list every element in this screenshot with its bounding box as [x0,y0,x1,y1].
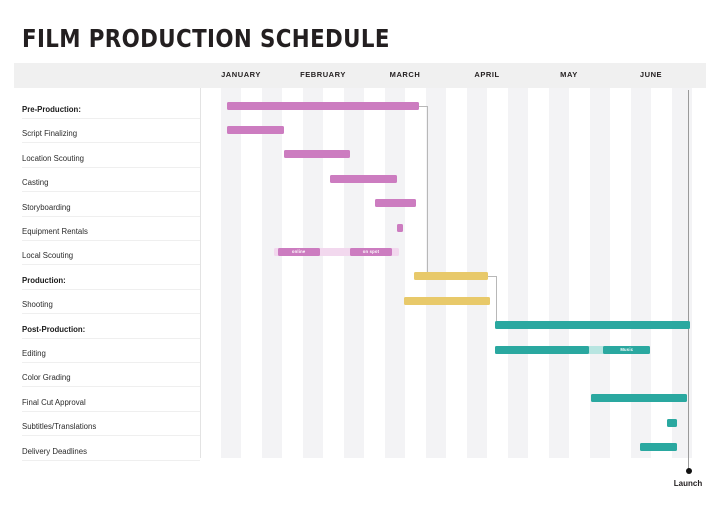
week-stripe [385,88,406,458]
row-separator [22,289,200,290]
row-separator [22,216,200,217]
gantt-bar[interactable] [227,126,284,134]
row-separator [22,362,200,363]
task-label-editing: Editing [22,349,46,358]
week-stripe [549,88,570,458]
week-stripe [631,88,652,458]
gantt-bar[interactable] [375,199,417,207]
row-separator [22,142,200,143]
task-label-column: Pre-Production:Script FinalizingLocation… [14,88,201,458]
gantt-bar[interactable] [414,272,488,280]
gantt-chart: JANUARYFEBRUARYMARCHAPRILMAYJUNE Pre-Pro… [14,63,706,458]
row-separator [22,191,200,192]
month-label-february: FEBRUARY [300,70,346,79]
week-stripe [508,88,529,458]
gantt-bar[interactable] [284,150,350,158]
week-stripe [303,88,324,458]
month-label-june: JUNE [640,70,662,79]
task-label-location-scouting: Location Scouting [22,154,84,163]
row-separator [22,338,200,339]
row-separator [22,118,200,119]
month-label-april: APRIL [474,70,499,79]
gantt-plot-area: onlineon spotMusic [200,88,692,458]
task-label-local-scouting: Local Scouting [22,251,73,260]
timeline-header-band [14,63,706,88]
week-stripe [221,88,242,458]
gantt-bar[interactable] [227,102,419,110]
month-label-january: JANUARY [221,70,261,79]
row-separator [22,386,200,387]
gantt-bar[interactable] [330,175,396,183]
task-label-casting: Casting [22,178,48,187]
connector-segment [427,106,428,277]
connector-segment [419,106,427,107]
week-stripe [344,88,365,458]
gantt-bar[interactable] [667,419,677,427]
task-label-subtitles-translations: Subtitles/Translations [22,422,96,431]
task-label-script-finalizing: Script Finalizing [22,129,77,138]
gantt-bar[interactable] [495,321,689,329]
gantt-bar-label: Music [603,348,650,352]
launch-label: Launch [674,479,702,488]
row-separator [22,264,200,265]
week-stripe [590,88,611,458]
connector-segment [488,276,496,277]
page-title: FILM PRODUCTION SCHEDULE [22,24,390,53]
gantt-bar-label: on spot [350,250,392,254]
row-separator [22,167,200,168]
gantt-bar-label: online [278,250,320,254]
task-label-pre-production: Pre-Production: [22,105,81,114]
task-label-final-cut-approval: Final Cut Approval [22,398,86,407]
row-separator [22,313,200,314]
gantt-bar[interactable] [404,297,490,305]
task-label-equipment-rentals: Equipment Rentals [22,227,88,236]
launch-line [688,90,689,470]
launch-dot [686,468,692,474]
gantt-chart-page: FILM PRODUCTION SCHEDULE JANUARYFEBRUARY… [0,0,720,509]
connector-segment [496,276,497,325]
month-label-may: MAY [560,70,578,79]
gantt-bar[interactable] [591,394,687,402]
task-label-delivery-deadlines: Delivery Deadlines [22,447,87,456]
row-separator [22,240,200,241]
row-separator [22,411,200,412]
row-separator [22,435,200,436]
task-label-storyboarding: Storyboarding [22,203,71,212]
week-stripe [262,88,283,458]
task-label-post-production: Post-Production: [22,325,85,334]
task-label-shooting: Shooting [22,300,53,309]
month-label-march: MARCH [390,70,421,79]
task-label-color-grading: Color Grading [22,373,71,382]
gantt-bar[interactable] [640,443,677,451]
task-label-production: Production: [22,276,66,285]
gantt-bar[interactable] [397,224,403,232]
gantt-bar[interactable] [495,346,588,354]
row-separator [22,460,200,461]
